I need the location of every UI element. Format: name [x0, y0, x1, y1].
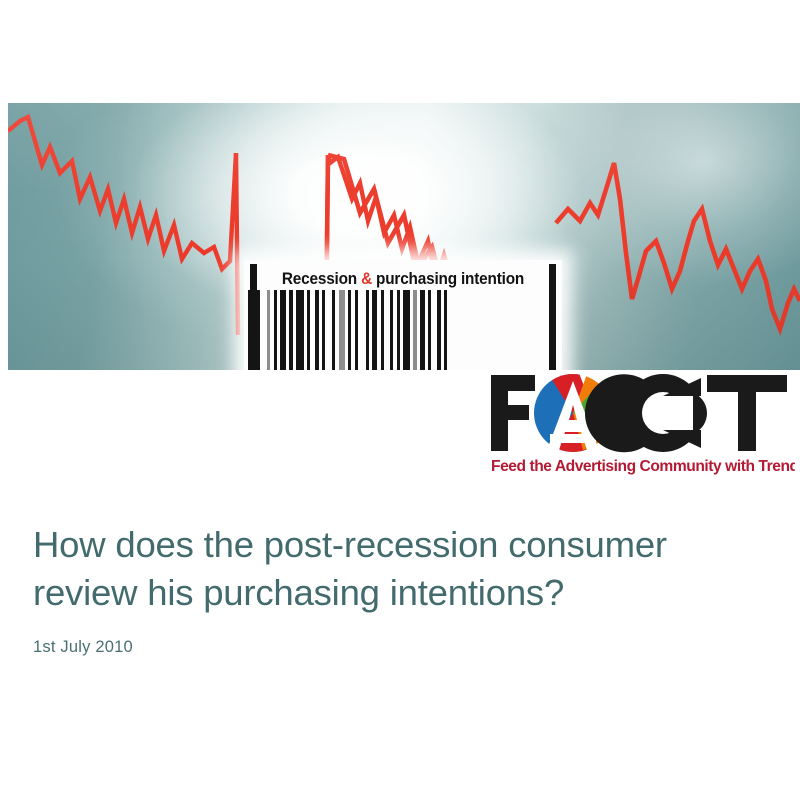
barcode-bars [244, 290, 562, 370]
barcode-label-ampersand: & [361, 270, 372, 288]
page-title-line-1: How does the post-recession consumer [33, 524, 667, 565]
hero-banner: Recession & purchasing intention [8, 103, 800, 370]
barcode-label: Recession & purchasing intention [255, 266, 551, 292]
fact-letter-t [707, 375, 787, 451]
fact-logo: Feed the Advertising Community with Tren… [487, 372, 795, 480]
fact-letter-c [585, 374, 707, 452]
fact-tagline: Feed the Advertising Community with Tren… [491, 458, 795, 475]
page-title: How does the post-recession consumer rev… [33, 521, 763, 617]
barcode-graphic: Recession & purchasing intention [244, 260, 562, 370]
fact-letter-f [491, 375, 535, 451]
barcode-gap [325, 290, 332, 370]
title-block: How does the post-recession consumer rev… [33, 521, 763, 658]
barcode-gap [447, 290, 454, 370]
title-slide: Recession & purchasing intention [0, 0, 800, 800]
barcode-gap [358, 290, 366, 370]
barcode-bar [296, 290, 304, 370]
page-title-line-2: review his purchasing intentions? [33, 572, 564, 613]
barcode-gap [260, 290, 267, 370]
barcode-bar [403, 290, 410, 370]
fact-logo-artwork: Feed the Advertising Community with Tren… [487, 372, 795, 480]
slide-date: 1st July 2010 [33, 636, 763, 658]
barcode-label-suffix: purchasing intention [372, 270, 524, 288]
barcode-label-prefix: Recession [282, 270, 361, 288]
